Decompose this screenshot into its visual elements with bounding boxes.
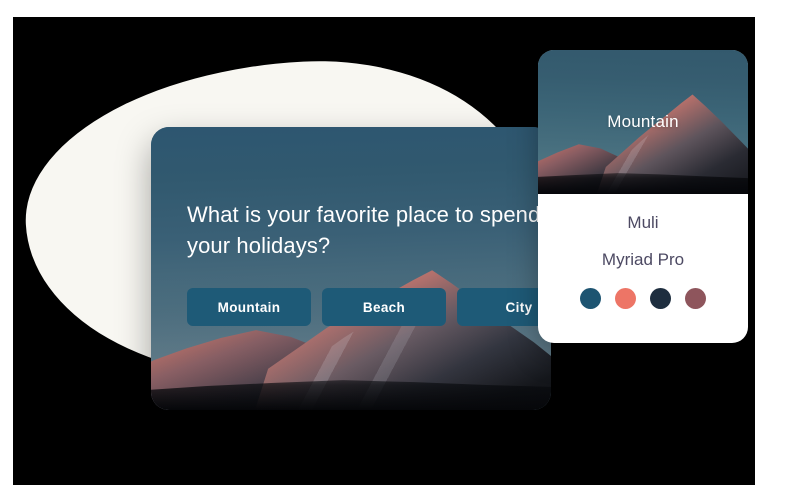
survey-card: What is your favorite place to spend you…: [151, 127, 551, 410]
survey-content: What is your favorite place to spend you…: [151, 127, 551, 410]
question-text: What is your favorite place to spend you…: [187, 199, 551, 261]
answer-options: Mountain Beach City: [187, 288, 551, 326]
preview-photo: Mountain: [538, 50, 748, 194]
preview-body: Muli Myriad Pro: [538, 194, 748, 309]
color-swatch-mauve[interactable]: [685, 288, 706, 309]
preview-photo-label: Mountain: [538, 112, 748, 132]
font-name-primary: Muli: [538, 214, 748, 231]
color-swatch-coral[interactable]: [615, 288, 636, 309]
answer-button-beach[interactable]: Beach: [322, 288, 446, 326]
answer-button-mountain[interactable]: Mountain: [187, 288, 311, 326]
color-swatch-row: [538, 288, 748, 309]
font-name-secondary: Myriad Pro: [538, 251, 748, 268]
stage: What is your favorite place to spend you…: [0, 0, 788, 504]
answer-button-city[interactable]: City: [457, 288, 551, 326]
style-preview-card: Mountain Muli Myriad Pro: [538, 50, 748, 343]
artboard: What is your favorite place to spend you…: [13, 17, 755, 485]
color-swatch-navy[interactable]: [650, 288, 671, 309]
color-swatch-teal-blue[interactable]: [580, 288, 601, 309]
